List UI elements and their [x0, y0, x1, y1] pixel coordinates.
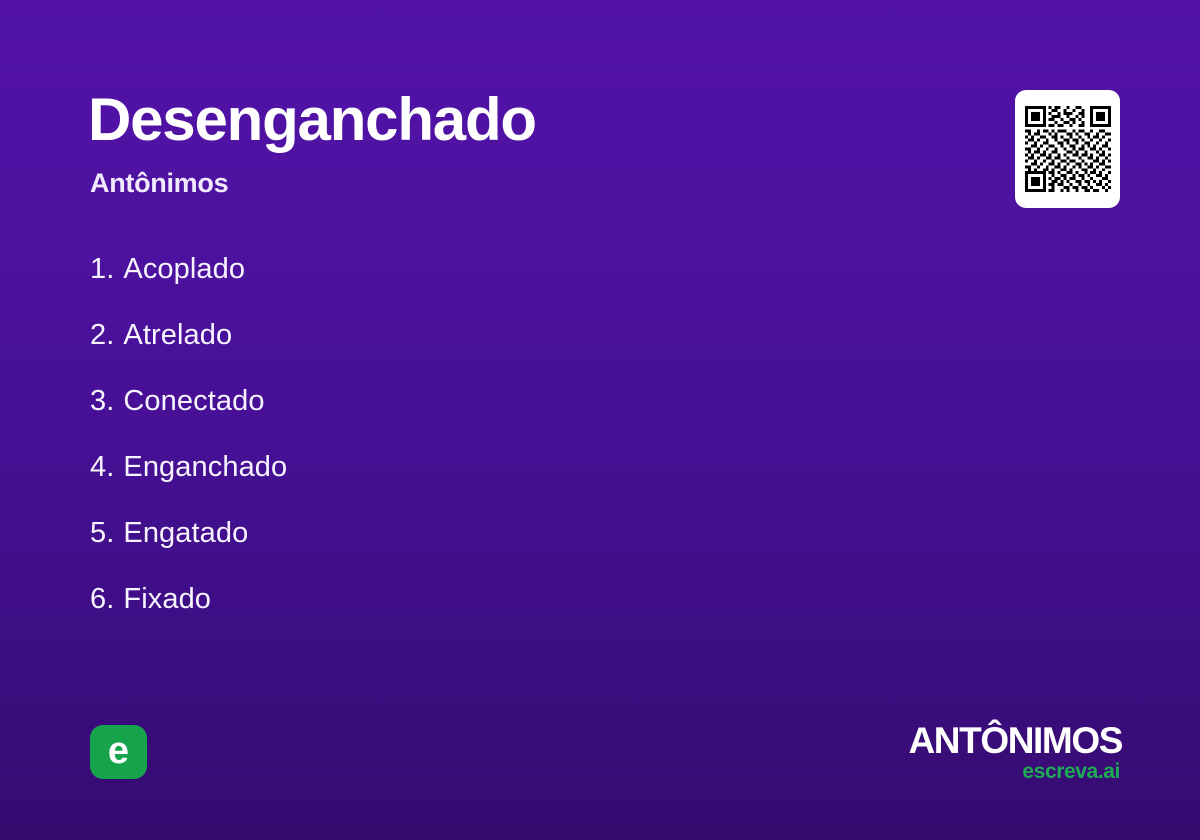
list-item-label: Fixado [123, 566, 211, 632]
list-item: 4. Enganchado [90, 434, 710, 500]
list-item-label: Engatado [123, 500, 248, 566]
list-item-number: 3. [90, 368, 114, 434]
list-item: 6. Fixado [90, 566, 710, 632]
brand-sub: escreva.ai [908, 761, 1120, 782]
list-item-number: 6. [90, 566, 114, 632]
antonym-list: 1. Acoplado 2. Atrelado 3. Conectado 4. … [90, 236, 710, 632]
list-item-number: 4. [90, 434, 114, 500]
qr-code-icon[interactable] [1015, 90, 1120, 208]
list-item: 2. Atrelado [90, 302, 710, 368]
list-item-number: 1. [90, 236, 114, 302]
list-item-label: Atrelado [123, 302, 232, 368]
list-item-label: Enganchado [123, 434, 287, 500]
antonyms-card: Desenganchado Antônimos 1. Acoplado 2. A… [0, 0, 1200, 840]
list-item-number: 2. [90, 302, 114, 368]
list-item: 5. Engatado [90, 500, 710, 566]
list-item-label: Conectado [123, 368, 264, 434]
page-title: Desenganchado [88, 88, 536, 151]
escreva-e-logo-icon[interactable]: e [90, 725, 147, 779]
list-item-number: 5. [90, 500, 114, 566]
brand-name: ANTÔNIMOS [908, 722, 1122, 759]
brand-lockup: ANTÔNIMOS escreva.ai [908, 722, 1122, 782]
e-badge-letter: e [108, 732, 129, 770]
list-item: 1. Acoplado [90, 236, 710, 302]
list-item-label: Acoplado [123, 236, 245, 302]
page-subtitle: Antônimos [90, 168, 228, 199]
list-item: 3. Conectado [90, 368, 710, 434]
